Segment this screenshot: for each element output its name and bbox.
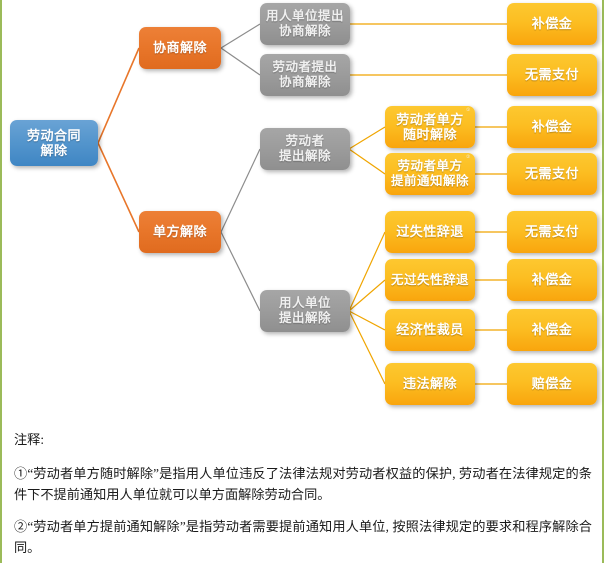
note-item-1: ①“劳动者单方随时解除”是指用人单位违反了法律法规对劳动者权益的保护, 劳动者在…	[14, 464, 592, 505]
gray-3-line2: 提出解除	[279, 311, 331, 325]
connector-root-to-unilateral	[98, 143, 139, 232]
node-employee-initiated-termination[interactable]: 劳动者提出解除	[260, 128, 350, 170]
connector-employer-to-fault	[349, 232, 385, 311]
node-reason-economic-layoff[interactable]: 经济性裁员	[385, 309, 475, 351]
node-reason-illegal-termination[interactable]: 违法解除	[385, 363, 475, 405]
reason-0-line1: 劳动者单方	[396, 112, 464, 127]
node-outcome-3-label: 补偿金	[528, 119, 577, 134]
gray-2-line1: 劳动者	[285, 134, 324, 148]
node-negotiated-termination[interactable]: 协商解除	[139, 27, 221, 69]
connector-negotiated-to-employee	[221, 48, 260, 75]
node-outcome-5[interactable]: 无需支付	[507, 211, 597, 253]
node-outcome-7-label: 补偿金	[528, 322, 577, 337]
node-reason-employee-anytime-label: 劳动者单方随时解除	[392, 112, 468, 143]
node-root[interactable]: 劳动合同解除	[10, 120, 98, 166]
gray-0-line2: 协商解除	[279, 24, 331, 38]
node-negotiated-termination-label: 协商解除	[149, 40, 211, 55]
node-employee-initiated-termination-label: 劳动者提出解除	[275, 134, 335, 164]
node-root-label: 劳动合同解除	[23, 128, 85, 159]
node-employer-initiated-termination[interactable]: 用人单位提出解除	[260, 290, 350, 332]
node-reason-economic-layoff-label: 经济性裁员	[392, 322, 468, 337]
node-outcome-2-label: 无需支付	[521, 67, 583, 82]
notes-heading: 注释:	[14, 430, 592, 450]
node-outcome-8-label: 赔偿金	[528, 376, 577, 391]
node-reason-nofault-dismissal[interactable]: 无过失性辞退	[385, 259, 475, 301]
node-outcome-7[interactable]: 补偿金	[507, 309, 597, 351]
node-root-line2: 解除	[40, 143, 67, 158]
gray-1-line1: 劳动者提出	[272, 60, 337, 74]
node-outcome-6[interactable]: 补偿金	[507, 259, 597, 301]
node-outcome-6-label: 补偿金	[528, 272, 577, 287]
node-outcome-4-label: 无需支付	[521, 166, 583, 181]
reason-1-line1: 劳动者单方	[397, 159, 462, 173]
connector-employer-to-nofault	[349, 280, 385, 311]
flowchart-diagram: 劳动合同解除 协商解除 单方解除 用人单位提出协商解除 劳动者提出协商解除 劳动…	[2, 0, 604, 415]
connector-employer-to-layoff	[349, 311, 385, 330]
reason-1-line2: 提前通知解除	[391, 174, 469, 188]
connector-root-to-negotiated	[98, 48, 139, 143]
node-reason-employee-advance-notice-label: 劳动者单方提前通知解除	[387, 159, 473, 189]
node-outcome-5-label: 无需支付	[521, 224, 583, 239]
node-root-line1: 劳动合同	[27, 128, 81, 143]
node-reason-fault-dismissal-label: 过失性辞退	[392, 224, 468, 239]
node-reason-employee-anytime[interactable]: ① 劳动者单方随时解除	[385, 106, 475, 148]
gray-1-line2: 协商解除	[279, 75, 331, 89]
note-item-2: ②“劳动者单方提前通知解除”是指劳动者需要提前通知用人单位, 按照法律规定的要求…	[14, 517, 592, 558]
node-outcome-3[interactable]: 补偿金	[507, 106, 597, 148]
node-reason-nofault-dismissal-label: 无过失性辞退	[387, 273, 473, 288]
notes-section: 注释: ①“劳动者单方随时解除”是指用人单位违反了法律法规对劳动者权益的保护, …	[14, 430, 592, 570]
connector-unilateral-to-employee-side	[221, 149, 260, 232]
reason-0-line2: 随时解除	[403, 127, 457, 142]
gray-0-line1: 用人单位提出	[266, 9, 344, 23]
connector-employee-to-notice	[349, 149, 385, 174]
connector-employee-to-anytime	[349, 127, 385, 149]
node-employer-proposed-negotiation[interactable]: 用人单位提出协商解除	[260, 3, 350, 45]
node-unilateral-termination-label: 单方解除	[149, 224, 211, 239]
node-outcome-8[interactable]: 赔偿金	[507, 363, 597, 405]
note-marker-2: ②	[466, 155, 470, 159]
connector-negotiated-to-employer	[221, 24, 260, 48]
node-outcome-1[interactable]: 补偿金	[507, 3, 597, 45]
node-outcome-2[interactable]: 无需支付	[507, 54, 597, 96]
page-root: 劳动合同解除 协商解除 单方解除 用人单位提出协商解除 劳动者提出协商解除 劳动…	[0, 0, 604, 563]
node-employee-proposed-negotiation-label: 劳动者提出协商解除	[268, 60, 341, 90]
node-reason-fault-dismissal[interactable]: 过失性辞退	[385, 211, 475, 253]
node-outcome-4[interactable]: 无需支付	[507, 153, 597, 195]
node-outcome-1-label: 补偿金	[528, 16, 577, 31]
connector-unilateral-to-employer-side	[221, 232, 260, 311]
gray-3-line1: 用人单位	[279, 296, 331, 310]
gray-2-line2: 提出解除	[279, 149, 331, 163]
node-reason-employee-advance-notice[interactable]: ② 劳动者单方提前通知解除	[385, 153, 475, 195]
node-unilateral-termination[interactable]: 单方解除	[139, 211, 221, 253]
node-employer-proposed-negotiation-label: 用人单位提出协商解除	[262, 9, 348, 39]
connector-employer-to-illegal	[349, 311, 385, 384]
note-marker-1: ①	[466, 108, 470, 112]
node-employer-initiated-termination-label: 用人单位提出解除	[275, 296, 335, 326]
node-employee-proposed-negotiation[interactable]: 劳动者提出协商解除	[260, 54, 350, 96]
node-reason-illegal-termination-label: 违法解除	[399, 376, 461, 391]
